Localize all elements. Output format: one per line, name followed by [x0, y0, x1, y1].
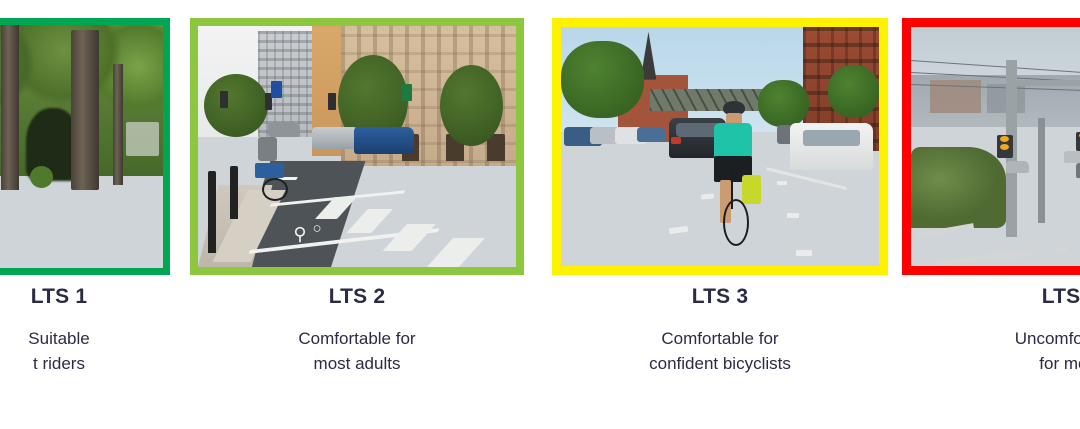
lane-dash	[777, 181, 787, 185]
moving-car	[1006, 161, 1028, 173]
cyclist-torso	[258, 137, 277, 161]
roadside-vegetation	[911, 147, 1006, 228]
cyclist-pannier	[255, 163, 284, 177]
buffer-hatch	[427, 238, 485, 267]
traffic-signal-head	[1076, 132, 1080, 151]
street-tree	[561, 41, 644, 117]
bike-lane-pavement-marking: ⚲	[293, 225, 306, 243]
traffic-signal-head	[997, 135, 1013, 159]
bike-lane-arrow-marking: ○	[312, 221, 321, 236]
flexible-bollard	[208, 171, 216, 253]
shrub	[30, 166, 53, 188]
bicycle-wheel	[262, 178, 288, 201]
lts-3-description-line-1: Comfortable for	[552, 326, 888, 351]
lts-4-description: Uncomfortable for most	[902, 326, 1080, 376]
lts-1-title: LTS 1	[0, 285, 170, 309]
tree-trunk	[113, 64, 123, 186]
lane-dash	[787, 213, 800, 218]
curb-edge	[936, 250, 1031, 266]
bicycle-frame	[731, 161, 733, 209]
street-sign	[402, 84, 413, 101]
signal-mast-arm	[1006, 80, 1080, 86]
street-tree	[440, 65, 504, 147]
lts-1-description-line-2b: t riders	[0, 351, 170, 376]
lts-2-description-line-2: most adults	[190, 351, 524, 376]
lts-column-4: LTS 4 Uncomfortable for most	[902, 0, 1080, 429]
parked-car	[637, 127, 666, 141]
lts-2-caption: LTS 2 Comfortable for most adults	[190, 285, 524, 376]
lane-dash	[669, 225, 689, 234]
lts-4-description-line-2: for most	[902, 351, 1080, 376]
lts-4-photo	[911, 27, 1080, 266]
lts-4-photo-frame	[902, 18, 1080, 275]
lts-1-photo-frame	[0, 18, 170, 275]
parked-car	[354, 127, 414, 154]
street-sign	[271, 81, 282, 98]
lts-2-photo: ⚲ ○	[198, 26, 516, 267]
bicycle-pannier	[742, 175, 761, 204]
office-tower	[258, 31, 312, 137]
traffic-signal	[220, 91, 228, 108]
lts-1-caption: LTS 1 Suitable Suitable for most riders …	[0, 285, 170, 376]
lts-1-description: Suitable Suitable for most riders t ride…	[0, 326, 170, 376]
lts-3-description: Comfortable for confident bicyclists	[552, 326, 888, 376]
lts-3-photo	[561, 27, 879, 266]
tail-light	[671, 137, 680, 144]
traffic-signal	[328, 93, 336, 110]
lts-3-photo-frame	[552, 18, 888, 275]
street-tree	[204, 74, 268, 137]
street-tree	[828, 65, 879, 118]
lts-1-description-line-1: Suitable	[0, 326, 170, 351]
car-window	[803, 130, 860, 147]
lts-column-1: LTS 1 Suitable Suitable for most riders …	[0, 0, 170, 429]
lts-4-caption: LTS 4 Uncomfortable for most	[902, 285, 1080, 376]
lts-column-2: ⚲ ○ LTS 2 Comfortable for most adults	[190, 0, 524, 429]
lane-dash	[1057, 248, 1067, 252]
moving-car	[268, 122, 300, 136]
lts-2-description: Comfortable for most adults	[190, 326, 524, 376]
lts-2-photo-frame: ⚲ ○	[190, 18, 524, 275]
tree-trunk	[1, 25, 20, 190]
moving-car	[1076, 163, 1080, 177]
lts-2-title: LTS 2	[190, 285, 524, 309]
background-house	[126, 122, 159, 156]
edge-line	[765, 167, 846, 190]
lts-3-description-line-2: confident bicyclists	[552, 351, 888, 376]
flexible-bollard	[230, 166, 238, 219]
lts-2-description-line-1: Comfortable for	[190, 326, 524, 351]
moving-car	[1064, 151, 1080, 163]
lane-dash	[701, 193, 714, 199]
lts-3-caption: LTS 3 Comfortable for confident bicyclis…	[552, 285, 888, 376]
lts-4-title: LTS 4	[902, 285, 1080, 309]
lts-3-title: LTS 3	[552, 285, 888, 309]
lts-4-description-line-1: Uncomfortable	[902, 326, 1080, 351]
lts-comparison-figure: LTS 1 Suitable Suitable for most riders …	[0, 0, 1080, 429]
utility-pole	[1038, 118, 1044, 223]
storefront-doorway	[487, 134, 504, 161]
bicycle-wheel	[723, 199, 749, 246]
lts-column-3: LTS 3 Comfortable for confident bicyclis…	[552, 0, 888, 429]
lane-dash	[796, 250, 812, 256]
tree-trunk	[71, 30, 98, 190]
street-tree	[758, 80, 809, 128]
rear-window	[676, 123, 719, 137]
buffer-hatch	[346, 209, 393, 233]
lts-1-photo	[0, 25, 163, 268]
